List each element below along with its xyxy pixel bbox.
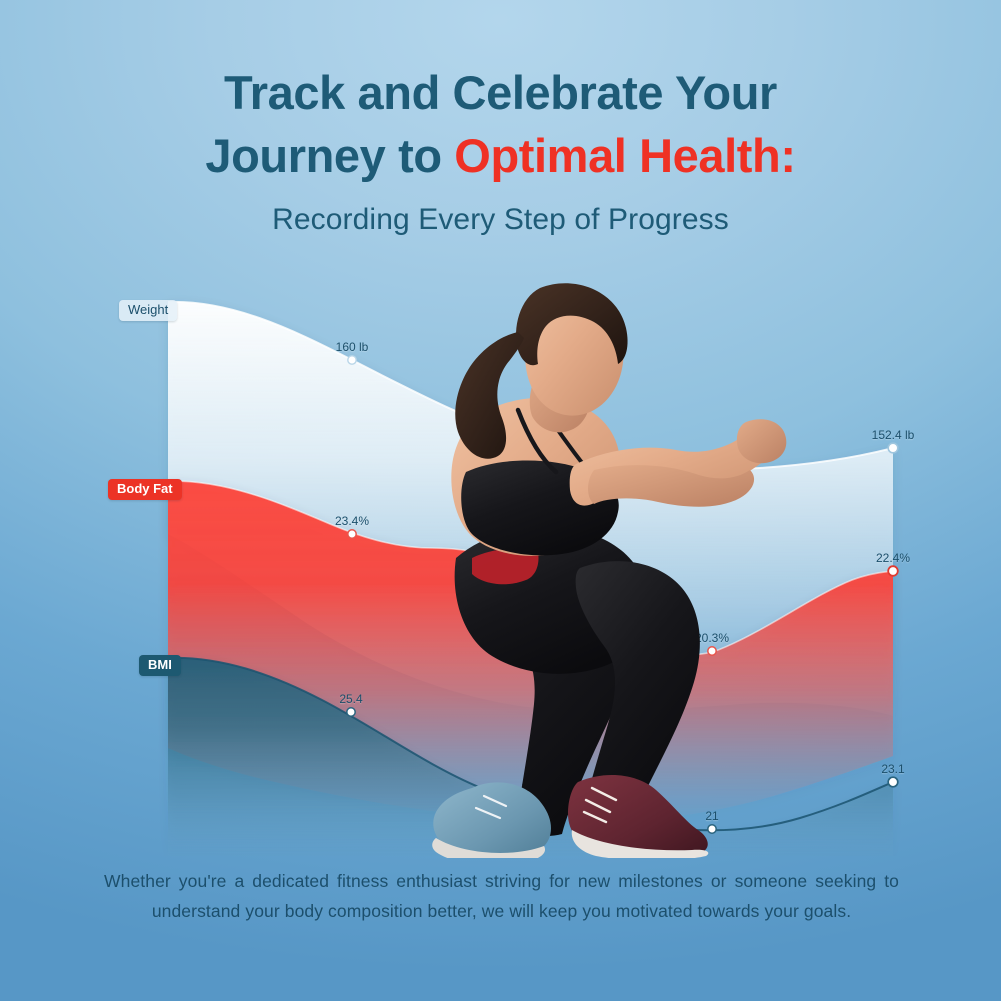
bmi-value-label-3: 21 xyxy=(705,809,718,823)
series-badge-body-fat[interactable]: Body Fat xyxy=(108,479,182,500)
headline-line-2-text: Journey to xyxy=(205,129,454,182)
chart-svg xyxy=(0,276,1001,856)
bmi-value-label-1: 25.4 xyxy=(339,692,362,706)
subheadline: Recording Every Step of Progress xyxy=(0,203,1001,237)
bodyfat-point-3 xyxy=(708,647,716,655)
bodyfat-value-label-3: 20.3% xyxy=(695,631,729,645)
bodyfat-value-label-4: 22.4% xyxy=(876,551,910,565)
bmi-point-4 xyxy=(888,777,898,787)
bodyfat-value-label-1: 23.4% xyxy=(335,514,369,528)
weight-value-label-1: 160 lb xyxy=(336,340,369,354)
bodyfat-point-1 xyxy=(348,530,356,538)
bodyfat-point-4 xyxy=(888,566,898,576)
bmi-point-2 xyxy=(529,796,537,804)
series-badge-weight[interactable]: Weight xyxy=(119,300,177,321)
headline-block: Track and Celebrate Your Journey to Opti… xyxy=(0,62,1001,237)
weight-value-label-4: 152.4 lb xyxy=(872,428,915,442)
series-badge-bmi[interactable]: BMI xyxy=(139,655,181,676)
bmi-point-3 xyxy=(708,825,716,833)
footer-paragraph: Whether you're a dedicated fitness enthu… xyxy=(104,866,899,926)
bmi-value-label-4: 23.1 xyxy=(881,762,904,776)
bmi-point-1 xyxy=(347,708,355,716)
body-composition-chart: Weight Body Fat BMI 160 lb lb 152.4 lb 2… xyxy=(0,276,1001,856)
headline-line-1: Track and Celebrate Your xyxy=(0,62,1001,125)
weight-point-1 xyxy=(348,356,356,364)
headline-accent-text: Optimal Health: xyxy=(454,129,795,182)
headline-line-1-text: Track and Celebrate Your xyxy=(224,66,777,119)
poster-canvas: Track and Celebrate Your Journey to Opti… xyxy=(0,0,1001,1001)
bmi-value-label-2: 22.7 xyxy=(521,780,544,794)
headline-line-2: Journey to Optimal Health: xyxy=(0,125,1001,188)
weight-point-4 xyxy=(888,443,898,453)
weight-value-label-2: lb xyxy=(721,460,730,474)
